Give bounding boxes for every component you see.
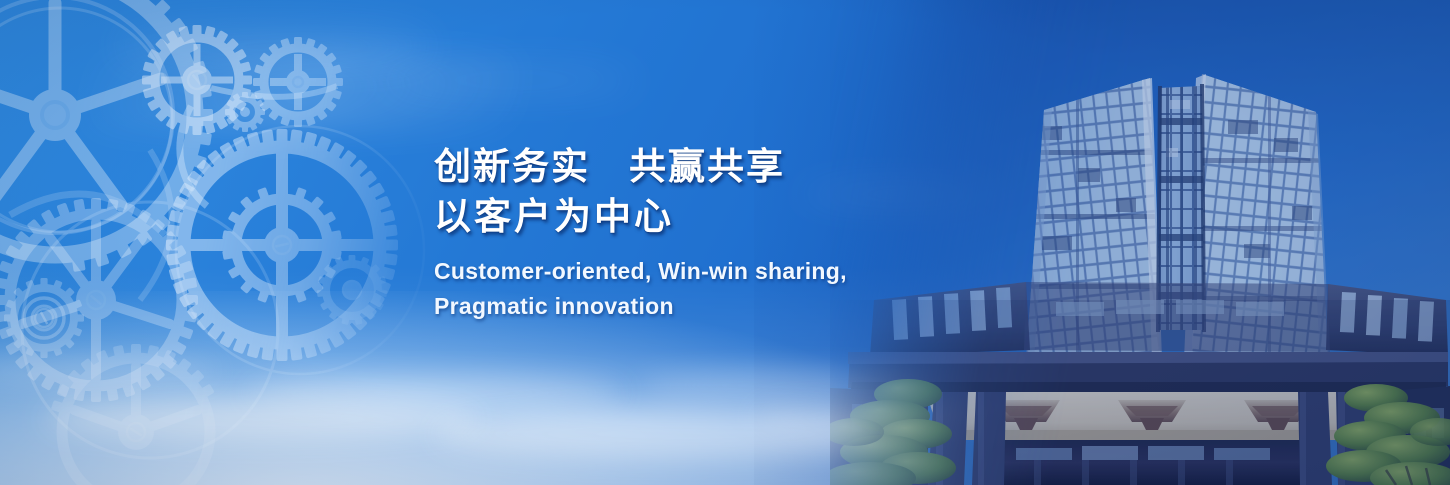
banner-copy: 创新务实 共赢共享 以客户为中心 Customer-oriented, Win-… — [434, 142, 954, 324]
headline-chinese-line-2: 以客户为中心 — [434, 192, 954, 242]
corporate-hero-banner: 创新务实 共赢共享 以客户为中心 Customer-oriented, Win-… — [0, 0, 1450, 485]
gears-clockwork-icon — [0, 0, 430, 485]
subtitle-english-line-1: Customer-oriented, Win-win sharing, — [434, 254, 954, 289]
headline-chinese-line-1: 创新务实 共赢共享 — [434, 142, 954, 192]
subtitle-english-line-2: Pragmatic innovation — [434, 289, 954, 324]
